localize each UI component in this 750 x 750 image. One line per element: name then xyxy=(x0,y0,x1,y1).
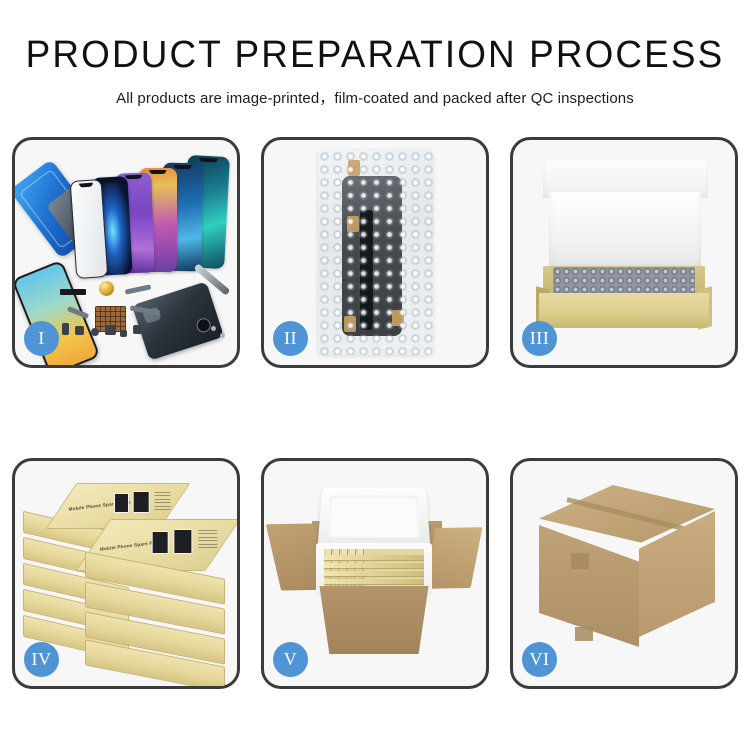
panel-badge-4: IV xyxy=(24,642,59,677)
phone-notch xyxy=(199,158,218,163)
adhesive-tab-left xyxy=(344,316,356,332)
tempered-glass-protector xyxy=(70,179,109,279)
foam-sheet xyxy=(549,192,701,270)
bubble-wrap-bag xyxy=(318,150,433,355)
gold-component xyxy=(99,281,114,296)
wrapped-flex-spine xyxy=(360,210,373,330)
process-panel-2[interactable]: II xyxy=(261,137,489,368)
screw-2 xyxy=(220,333,225,338)
small-part-2 xyxy=(75,326,84,335)
phone-notch xyxy=(101,179,118,184)
carton-front-wall xyxy=(312,586,436,654)
box-spec-lines-rear xyxy=(155,492,171,512)
phone-notch xyxy=(125,175,142,180)
small-part-1 xyxy=(62,323,69,335)
adhesive-tab-right xyxy=(392,310,404,326)
process-panel-5[interactable]: V xyxy=(261,458,489,689)
foam-box-lid xyxy=(318,487,431,547)
page-subtitle: All products are image-printed，film-coat… xyxy=(0,87,750,108)
box-window-a xyxy=(152,531,169,554)
panel-badge-6: VI xyxy=(522,642,557,677)
process-panel-6[interactable]: VI xyxy=(510,458,738,689)
box-window-b xyxy=(133,491,150,513)
carton-tape-upper xyxy=(571,553,589,569)
phone-notch xyxy=(79,183,93,188)
adhesive-tab-top xyxy=(348,160,360,176)
panel-badge-3: III xyxy=(522,321,557,356)
box-spec-lines-front xyxy=(198,530,217,550)
small-part-3 xyxy=(91,328,99,336)
panel-badge-2: II xyxy=(273,321,308,356)
phone-back-housing xyxy=(132,281,224,360)
box-window-b xyxy=(173,529,192,554)
phone-notch xyxy=(149,170,166,174)
speaker-module xyxy=(60,289,86,295)
small-part-6 xyxy=(133,325,142,334)
box-front-panel xyxy=(539,293,709,328)
process-panel-grid: I II III xyxy=(12,137,738,689)
adhesive-tab-mid xyxy=(347,216,359,232)
screw-1 xyxy=(211,326,216,331)
flex-cable-1 xyxy=(125,284,151,294)
process-panel-4[interactable]: Mobile Phone Spare Parts Mobile Phone Sp… xyxy=(12,458,240,689)
packed-yellow-boxes xyxy=(324,549,424,589)
phone-notch xyxy=(174,165,192,169)
panel-badge-5: V xyxy=(273,642,308,677)
process-panel-1[interactable]: I xyxy=(12,137,240,368)
small-part-4 xyxy=(105,325,116,335)
small-part-5 xyxy=(120,330,127,337)
page-title: PRODUCT PREPARATION PROCESS xyxy=(11,36,739,76)
page-header: PRODUCT PREPARATION PROCESS All products… xyxy=(0,0,750,108)
box-window-a xyxy=(114,493,129,513)
process-panel-3[interactable]: III xyxy=(510,137,738,368)
carton-tape-lower xyxy=(575,627,593,641)
panel-badge-1: I xyxy=(24,321,59,356)
